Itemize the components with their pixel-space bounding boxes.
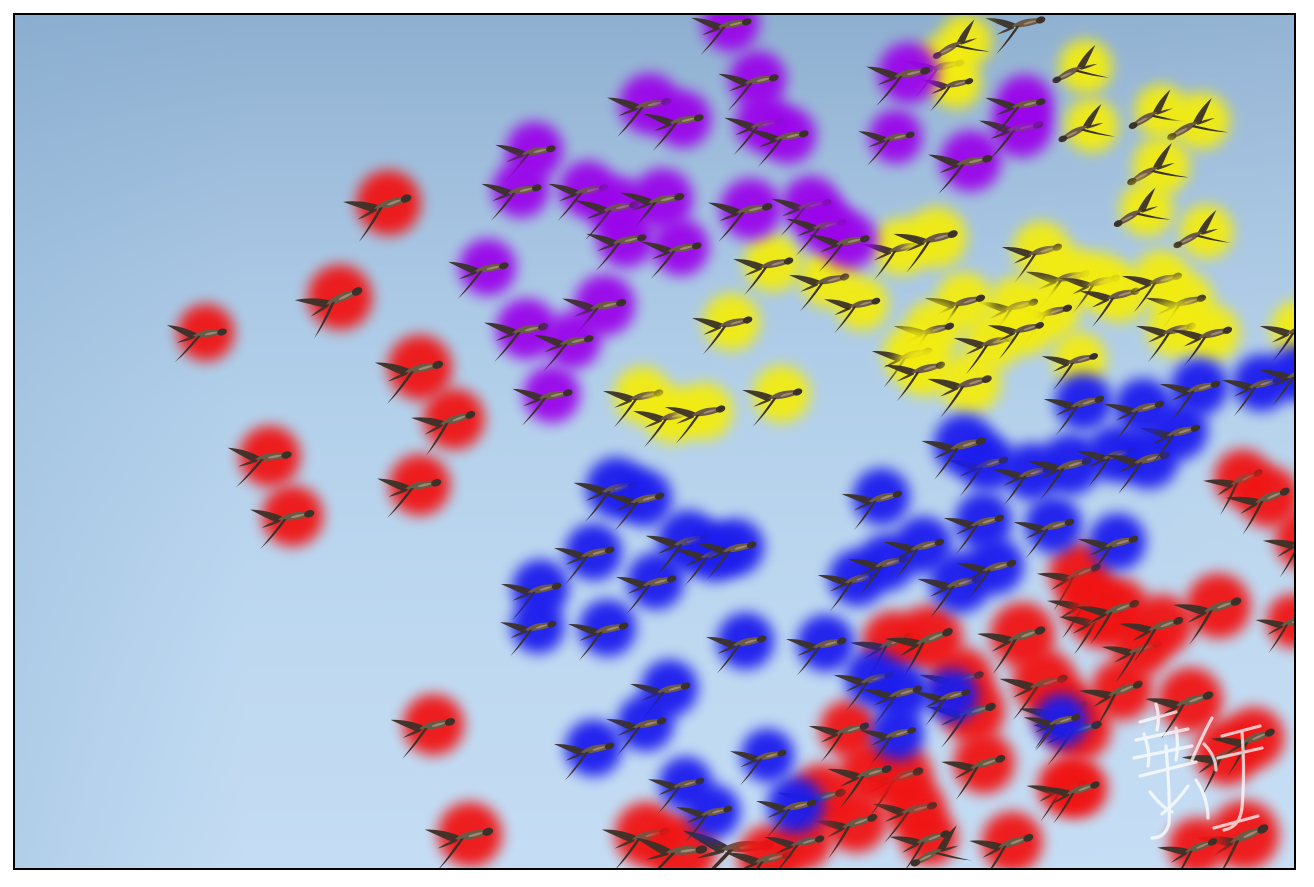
light-blob-blue xyxy=(578,449,656,527)
light-blob-red xyxy=(1204,439,1282,517)
swallow-icon xyxy=(752,780,824,839)
swallow-icon xyxy=(290,266,373,341)
light-blob-red xyxy=(1037,686,1121,770)
swallow-icon xyxy=(1050,102,1117,157)
swallow-icon xyxy=(571,181,647,242)
light-blob-yellow xyxy=(925,52,988,115)
swallow-icon xyxy=(600,473,672,532)
light-blob-red xyxy=(1050,562,1131,643)
light-blob-yellow xyxy=(1005,213,1079,287)
swallow-icon xyxy=(988,446,1060,507)
light-blob-blue xyxy=(921,543,1000,622)
swallow-icon xyxy=(1142,275,1214,336)
swallow-icon xyxy=(890,303,962,364)
light-blob-yellow xyxy=(737,227,810,300)
light-blob-red xyxy=(1265,499,1296,581)
light-blob-purple xyxy=(611,66,688,143)
swallow-icon xyxy=(1097,621,1170,684)
light-blob-red xyxy=(931,668,1015,752)
light-blob-purple xyxy=(485,154,557,226)
light-blob-yellow xyxy=(1045,325,1114,394)
swallow-icon xyxy=(823,745,900,810)
swallow-icon xyxy=(869,782,945,845)
swallow-icon xyxy=(910,671,977,728)
swallow-icon xyxy=(738,369,810,428)
swallow-icon xyxy=(1040,376,1112,437)
swallow-icon xyxy=(644,760,711,815)
light-blob-blue xyxy=(1047,365,1121,439)
light-blob-purple xyxy=(590,204,662,276)
swallow-icon xyxy=(338,173,421,244)
swallow-icon xyxy=(1076,268,1148,329)
light-blob-red xyxy=(381,447,458,524)
swallow-icon xyxy=(702,616,774,675)
swallow-icon xyxy=(639,95,710,153)
light-blob-red xyxy=(296,253,384,341)
swallow-icon xyxy=(1008,285,1080,346)
light-blob-blue xyxy=(734,721,802,789)
light-blob-blue xyxy=(700,511,773,584)
light-blob-red xyxy=(816,782,897,863)
swallow-icon xyxy=(1100,381,1172,442)
light-blob-red xyxy=(395,686,473,764)
light-blob-red xyxy=(887,594,974,681)
swallow-icon xyxy=(630,822,712,870)
swallow-icon xyxy=(444,243,515,301)
swallow-icon xyxy=(704,183,780,244)
light-blob-yellow xyxy=(981,268,1055,342)
light-blob-red xyxy=(944,723,1025,804)
light-blob-red xyxy=(414,379,495,460)
swallow-icon xyxy=(944,437,1016,498)
swallow-icon xyxy=(223,431,298,490)
light-blob-red xyxy=(1122,585,1203,666)
swallow-icon xyxy=(1056,255,1128,316)
light-blob-blue xyxy=(1017,488,1091,562)
swallow-icon xyxy=(629,390,701,449)
swallow-icon xyxy=(1256,347,1296,408)
swallow-icon xyxy=(782,200,853,258)
light-blob-red xyxy=(1081,649,1163,731)
light-blob-red xyxy=(1039,532,1121,614)
swallow-icon xyxy=(550,723,622,782)
light-blob-blue xyxy=(1109,419,1188,498)
swallow-icon xyxy=(923,355,1000,420)
swallow-icon xyxy=(420,806,501,870)
light-blob-yellow xyxy=(1125,129,1199,203)
swallow-icon xyxy=(1118,140,1190,201)
light-blob-purple xyxy=(566,267,643,344)
light-blob-red xyxy=(877,770,955,848)
light-blob-yellow xyxy=(1175,296,1249,370)
light-blob-purple xyxy=(516,359,588,431)
swallow-icon xyxy=(688,297,760,356)
swallow-icon xyxy=(918,62,980,113)
swallow-icon xyxy=(661,386,733,445)
light-blob-red xyxy=(923,639,1002,718)
light-blob-purple xyxy=(645,212,717,284)
swallow-icon xyxy=(1101,431,1178,496)
light-blob-red xyxy=(1029,749,1105,825)
light-blob-yellow xyxy=(897,292,971,366)
light-blob-purple xyxy=(537,305,609,377)
light-blob-purple xyxy=(712,171,789,248)
swallow-icon xyxy=(387,698,463,761)
light-blob-purple xyxy=(552,154,624,226)
swallow-icon xyxy=(477,165,548,223)
light-blob-yellow xyxy=(1125,242,1199,316)
swallow-icon xyxy=(370,339,451,406)
swallow-icon xyxy=(1029,699,1111,768)
light-blob-purple xyxy=(813,205,885,277)
light-blob-yellow xyxy=(746,358,819,431)
light-blob-blue xyxy=(837,641,911,715)
swallow-icon xyxy=(1156,361,1228,422)
swallow-icon xyxy=(1218,357,1290,418)
light-blob-blue xyxy=(995,435,1069,509)
light-blob-red xyxy=(346,160,432,246)
light-blob-purple xyxy=(499,115,571,187)
swallow-icon xyxy=(1115,597,1193,664)
swallow-icon xyxy=(1259,511,1296,580)
light-blob-blue xyxy=(925,405,1004,484)
light-blob-blue xyxy=(650,502,728,580)
swallow-icon xyxy=(603,78,679,139)
light-blob-yellow xyxy=(1263,292,1296,366)
light-blob-red xyxy=(233,419,307,493)
swallow-icon xyxy=(972,605,1055,676)
light-blob-yellow xyxy=(793,243,866,316)
light-blob-red xyxy=(892,800,968,870)
swallow-icon xyxy=(1020,696,1087,753)
swallow-icon xyxy=(885,811,958,870)
light-blob-red xyxy=(1042,751,1118,827)
swallow-icon xyxy=(858,666,930,727)
light-blob-yellow xyxy=(696,286,769,359)
light-blob-purple xyxy=(870,35,947,112)
swallow-icon xyxy=(616,173,692,234)
swallow-icon xyxy=(915,651,992,716)
swallow-icon xyxy=(902,823,974,870)
light-blob-red xyxy=(1148,657,1234,743)
light-blob-purple xyxy=(983,89,1060,166)
light-blob-yellow xyxy=(1173,197,1241,265)
light-blob-purple xyxy=(624,161,701,238)
swallow-icon xyxy=(921,275,993,336)
light-blob-yellow xyxy=(931,343,1010,422)
light-blob-purple xyxy=(579,169,656,246)
swallow-icon xyxy=(558,279,634,340)
swallow-icon xyxy=(1132,303,1204,364)
swallow-icon xyxy=(637,223,708,281)
swallow-icon xyxy=(612,556,684,615)
swallow-icon xyxy=(913,555,990,620)
swallow-icon xyxy=(773,767,855,836)
light-blob-yellow xyxy=(1139,292,1213,366)
light-blob-yellow xyxy=(1165,84,1239,158)
light-blob-yellow xyxy=(875,317,949,391)
light-blob-red xyxy=(1003,640,1087,724)
swallow-icon xyxy=(163,309,233,364)
light-blob-yellow xyxy=(908,29,981,102)
light-blob-red xyxy=(254,478,331,555)
swallow-icon xyxy=(981,13,1053,56)
light-blob-blue xyxy=(1107,370,1181,444)
light-blob-red xyxy=(980,592,1066,678)
light-blob-blue xyxy=(572,592,645,665)
light-blob-blue xyxy=(887,508,961,582)
swallow-icon xyxy=(981,79,1052,137)
swallow-icon xyxy=(838,471,910,532)
swallow-icon xyxy=(881,342,953,403)
light-blob-blue xyxy=(652,749,720,817)
swallow-icon xyxy=(1153,819,1226,870)
light-blob-red xyxy=(1104,610,1180,686)
swallow-icon xyxy=(889,210,966,275)
light-blob-yellow xyxy=(931,13,1000,76)
swallow-icon xyxy=(642,514,718,577)
light-blob-blue xyxy=(1081,505,1155,579)
light-blob-red xyxy=(1176,563,1262,649)
swallow-icon xyxy=(830,652,902,713)
light-blob-blue xyxy=(678,517,751,590)
swallow-icon xyxy=(373,459,449,520)
swallow-icon xyxy=(544,165,615,223)
light-blob-purple xyxy=(452,232,524,304)
swallow-icon xyxy=(1022,250,1098,313)
swallow-icon xyxy=(923,681,1005,750)
swallow-icon xyxy=(868,328,940,389)
swallow-icon xyxy=(1044,43,1111,98)
swallow-icon xyxy=(952,540,1024,601)
light-blob-blue xyxy=(1027,686,1096,755)
swallow-icon xyxy=(785,254,857,313)
swallow-icon xyxy=(582,215,653,273)
light-blob-yellow xyxy=(865,210,939,284)
swallow-icon xyxy=(1072,428,1144,489)
swallow-icon xyxy=(805,703,877,764)
light-blob-purple xyxy=(647,84,719,156)
swallow-icon xyxy=(626,663,698,722)
swallow-icon xyxy=(1075,661,1153,730)
swallow-icon xyxy=(597,806,678,870)
light-blob-purple xyxy=(790,189,862,261)
swallow-icon xyxy=(974,279,1046,340)
light-blob-yellow xyxy=(1052,32,1120,100)
swallow-icon xyxy=(917,417,994,482)
light-blob-red xyxy=(812,692,886,766)
swallow-icon xyxy=(692,522,764,581)
swallow-icon xyxy=(602,698,674,757)
swallow-icon xyxy=(1035,762,1108,825)
swallow-icon xyxy=(880,519,952,580)
light-blob-blue xyxy=(1143,394,1217,468)
swallow-icon xyxy=(984,304,1051,361)
swallow-icon xyxy=(975,101,1051,162)
swallow-icon xyxy=(846,613,924,682)
light-blob-yellow xyxy=(1083,257,1157,331)
light-blob-yellow xyxy=(1127,77,1196,146)
light-blob-purple xyxy=(989,68,1061,140)
light-blob-yellow xyxy=(957,304,1031,378)
light-blob-red xyxy=(972,802,1053,870)
swallow-icon xyxy=(937,735,1015,802)
light-blob-blue xyxy=(710,605,783,678)
light-blob-purple xyxy=(775,169,847,241)
light-blob-yellow xyxy=(669,375,742,448)
swallow-icon xyxy=(670,528,742,587)
swallow-icon xyxy=(744,111,815,169)
light-blob-yellow xyxy=(607,359,680,432)
swallow-icon xyxy=(496,603,563,658)
light-blob-yellow xyxy=(1149,264,1223,338)
swallow-icon xyxy=(1120,87,1187,144)
swallow-icon xyxy=(687,13,758,56)
light-blob-yellow xyxy=(1112,175,1181,244)
light-blob-blue xyxy=(865,655,939,729)
light-blob-blue xyxy=(863,699,932,768)
swallow-icon xyxy=(760,816,832,870)
light-blob-red xyxy=(831,733,910,812)
light-blob-blue xyxy=(947,484,1021,558)
light-blob-red xyxy=(852,601,934,683)
light-blob-red xyxy=(1258,586,1296,657)
swallow-icon xyxy=(1043,574,1121,641)
swallow-icon xyxy=(1165,208,1232,263)
swallow-icon xyxy=(1118,253,1190,314)
swallow-icon xyxy=(782,618,854,677)
light-blob-yellow xyxy=(637,379,710,452)
light-blob-purple xyxy=(932,123,1009,200)
swallow-icon xyxy=(1168,576,1251,647)
swallow-icon xyxy=(1140,670,1223,741)
light-blob-yellow xyxy=(828,269,896,337)
swallow-icon xyxy=(1256,303,1296,364)
swallow-icon xyxy=(856,709,923,766)
swallow-icon xyxy=(570,461,646,524)
swallow-icon xyxy=(599,370,671,429)
swallow-icon xyxy=(1022,760,1095,823)
swallow-icon xyxy=(814,552,886,613)
light-blob-blue xyxy=(851,525,925,599)
swallow-icon xyxy=(1158,95,1230,156)
light-blob-blue xyxy=(505,552,578,625)
light-blob-purple xyxy=(752,100,824,172)
light-blob-blue xyxy=(680,777,748,845)
swallow-icon xyxy=(1010,499,1082,560)
swallow-icon xyxy=(529,316,600,374)
swallow-icon xyxy=(1252,596,1296,655)
light-blob-red xyxy=(768,805,841,870)
swallow-icon xyxy=(407,391,485,458)
swallow-icon xyxy=(480,303,556,364)
light-blob-red xyxy=(172,298,242,368)
swallow-icon xyxy=(677,810,782,870)
light-blob-blue xyxy=(608,462,681,535)
swallow-icon xyxy=(1014,680,1097,751)
swallow-icon xyxy=(720,829,801,870)
light-blob-blue xyxy=(1031,425,1110,504)
swallow-icon xyxy=(950,315,1022,376)
light-blob-blue xyxy=(821,541,895,615)
swallow-icon xyxy=(998,224,1070,285)
light-blob-blue xyxy=(790,607,863,680)
light-blob-red xyxy=(379,326,462,409)
swallow-icon xyxy=(1033,544,1111,613)
swallow-icon xyxy=(844,536,916,597)
light-blob-purple xyxy=(862,103,929,170)
light-blob-blue xyxy=(610,687,683,760)
swallow-icon xyxy=(1055,590,1133,657)
swallow-icon xyxy=(1192,802,1280,870)
swallow-icon xyxy=(1136,405,1208,466)
swallow-icon xyxy=(900,40,972,99)
light-blob-blue xyxy=(1163,350,1237,424)
swallow-icon xyxy=(1071,580,1149,647)
swallow-icon xyxy=(720,99,791,157)
swallow-icon xyxy=(924,17,991,74)
light-blob-yellow xyxy=(991,294,1060,363)
light-blob-red xyxy=(729,816,812,870)
light-blob-purple xyxy=(722,44,794,116)
light-blob-blue xyxy=(504,592,572,660)
swallow-icon xyxy=(1105,185,1172,242)
light-blob-red xyxy=(1159,808,1236,870)
light-blob-red xyxy=(642,809,723,870)
light-blob-red xyxy=(1198,788,1291,870)
light-blob-red xyxy=(1022,667,1108,753)
swallow-icon xyxy=(1222,468,1296,537)
light-blob-red xyxy=(858,733,944,819)
swallow-icon xyxy=(564,603,636,662)
swallow-icon xyxy=(924,135,1000,196)
swallow-icon xyxy=(1074,516,1146,577)
swallow-icon xyxy=(729,238,801,297)
swallow-icon xyxy=(1177,722,1260,798)
swallow-icon xyxy=(850,746,933,817)
swallow-icon xyxy=(1023,437,1100,502)
light-blob-blue xyxy=(1079,417,1153,491)
light-blob-blue xyxy=(760,769,833,842)
swallow-icon xyxy=(726,732,793,787)
light-blob-blue xyxy=(558,712,631,785)
light-blob-blue xyxy=(951,426,1025,500)
light-blob-red xyxy=(1062,578,1143,659)
swallow-icon xyxy=(497,563,569,622)
swallow-icon xyxy=(767,180,838,238)
light-blob-blue xyxy=(1225,346,1296,420)
swallow-icon xyxy=(714,55,785,113)
swallow-icon xyxy=(940,495,1012,556)
swallow-icon xyxy=(820,280,887,335)
swallow-icon xyxy=(246,490,322,551)
swallow-icon xyxy=(995,653,1077,722)
swallow-icon xyxy=(855,114,921,168)
swallow-icon xyxy=(805,216,876,274)
light-blob-purple xyxy=(488,291,565,368)
light-blob-red xyxy=(429,793,512,870)
light-blob-blue xyxy=(634,652,707,725)
light-blob-blue xyxy=(620,545,693,618)
swallow-icon xyxy=(672,788,739,843)
light-blob-red xyxy=(1228,456,1296,538)
swallow-icon xyxy=(550,527,622,586)
flock-layer xyxy=(15,15,1294,868)
swallow-icon xyxy=(1168,307,1240,368)
light-blob-red xyxy=(1078,568,1159,649)
swallow-icon xyxy=(491,126,562,184)
light-blob-blue xyxy=(845,460,919,534)
